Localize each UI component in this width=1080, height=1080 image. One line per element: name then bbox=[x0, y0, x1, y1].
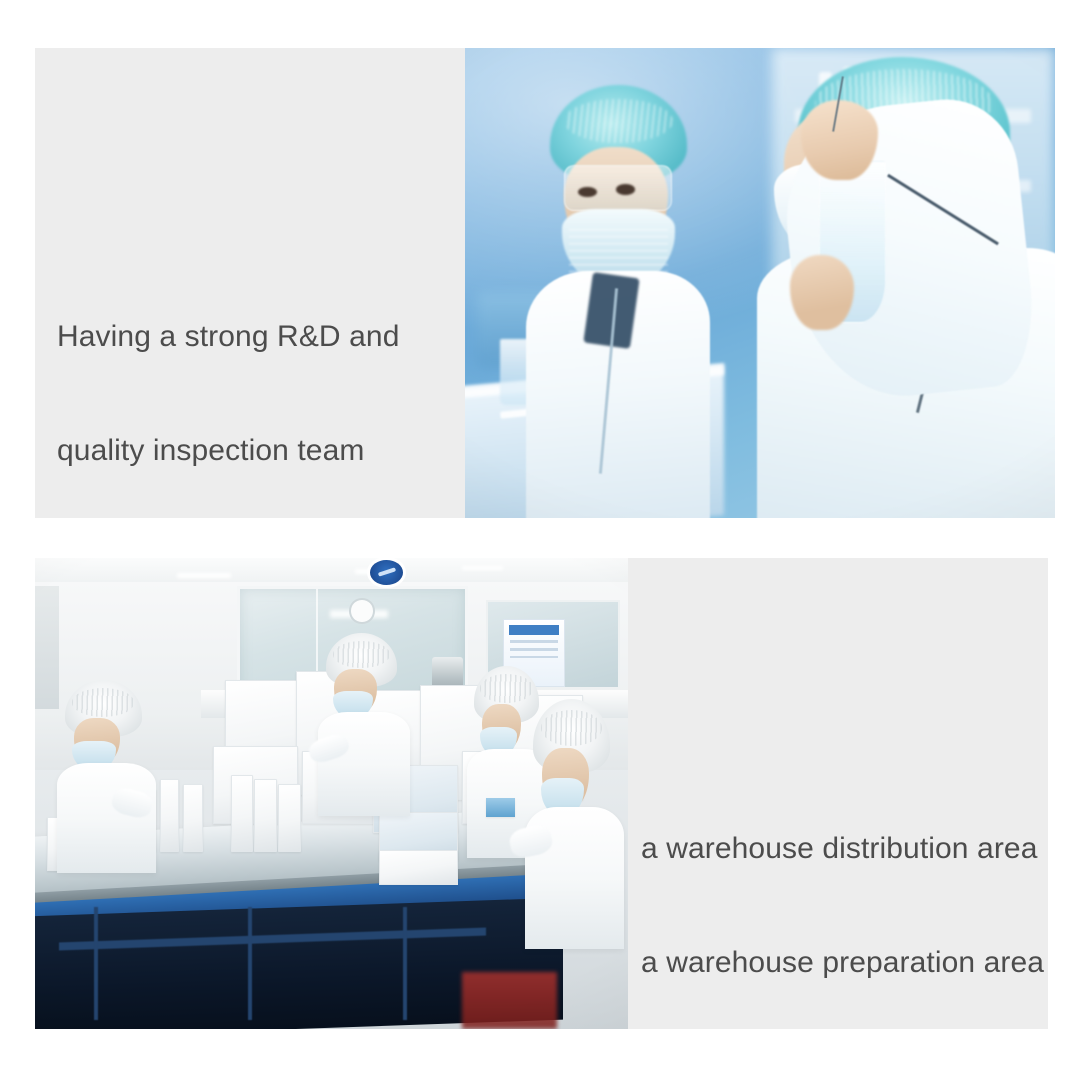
warehouse-caption-line-2: a warehouse preparation area bbox=[641, 944, 1041, 982]
poster-header-bar bbox=[509, 625, 559, 634]
blue-packing-tool bbox=[486, 798, 516, 817]
poster-text-line bbox=[510, 656, 557, 659]
lab-hand-lower bbox=[790, 255, 855, 330]
table-leg bbox=[248, 907, 252, 1020]
worker-lab-coat bbox=[57, 763, 156, 872]
warehouse-caption: a warehouse distribution area a warehous… bbox=[641, 754, 1041, 1058]
lab-quality-inspection-photo bbox=[465, 48, 1055, 518]
lab-hand-upper bbox=[801, 100, 878, 180]
rd-quality-caption-line-2: quality inspection team bbox=[57, 432, 457, 470]
warehouse-worker-left bbox=[65, 680, 142, 868]
warehouse-worker-center bbox=[326, 633, 397, 812]
carton-upright bbox=[231, 775, 254, 852]
warehouse-door-frame bbox=[35, 586, 59, 708]
carton-upright bbox=[278, 784, 301, 852]
table-leg bbox=[94, 907, 98, 1020]
poster-text-line bbox=[510, 648, 557, 651]
carton-upright bbox=[254, 779, 277, 852]
ceiling-light bbox=[462, 566, 504, 571]
poster-canvas: Having a strong R&D and quality inspecti… bbox=[0, 0, 1080, 1080]
worker-lab-coat bbox=[318, 712, 409, 816]
warehouse-packing-photo bbox=[35, 558, 628, 1029]
lab-worker-eye bbox=[616, 184, 635, 195]
table-leg bbox=[403, 907, 407, 1020]
rd-quality-caption: Having a strong R&D and quality inspecti… bbox=[57, 242, 457, 546]
warehouse-worker-right-b bbox=[533, 699, 610, 944]
wall-clock-icon bbox=[349, 598, 374, 624]
warehouse-caption-line-1: a warehouse distribution area bbox=[641, 830, 1041, 868]
carton-row bbox=[379, 850, 458, 885]
carton-upright bbox=[183, 784, 203, 852]
floor-red-marking bbox=[462, 972, 557, 1029]
ceiling-light bbox=[177, 573, 230, 578]
carton-upright bbox=[160, 779, 180, 852]
rd-quality-caption-line-1: Having a strong R&D and bbox=[57, 318, 457, 356]
poster-text-line bbox=[510, 640, 557, 643]
